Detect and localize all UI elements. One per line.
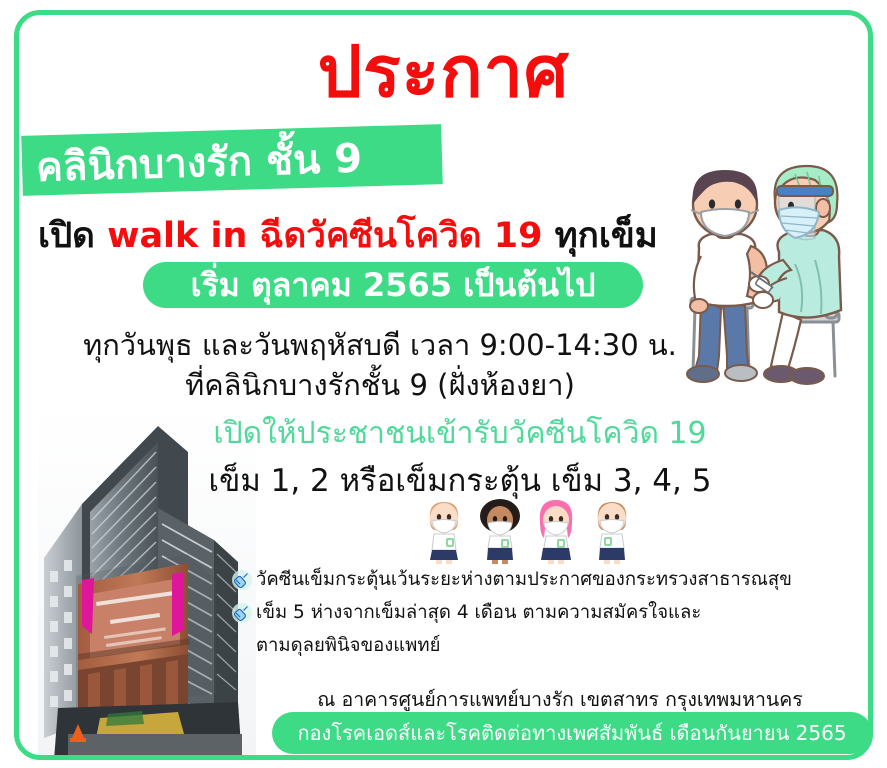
note-text: เข็ม 5 ห่างจากเข็มล่าสุด 4 เดือน ตามความ… (256, 601, 701, 626)
note-row: วัคซีนเข็มกระตุ้นเว้นระยะห่างตามประกาศขอ… (228, 568, 868, 594)
walkin-suffix: ทุกเข็ม (542, 216, 657, 256)
dose-options: เข็ม 1, 2 หรือเข็มกระตุ้น เข็ม 3, 4, 5 (150, 455, 770, 505)
start-date-banner: เริ่ม ตุลาคม 2565 เป็นต้นไป (143, 262, 643, 308)
note-row: เข็ม 5 ห่างจากเข็มล่าสุด 4 เดือน ตามความ… (228, 601, 868, 627)
note-row: ตามดุลยพินิจของแพทย์ (228, 634, 868, 660)
clinic-banner-label: คลินิกบางรัก ชั้น 9 (35, 127, 456, 195)
page-title: ประกาศ (0, 36, 887, 110)
poster-canvas: ประกาศ คลินิกบางรัก ชั้น 9 เปิด walk in … (0, 0, 887, 768)
walkin-prefix: เปิด (38, 216, 107, 256)
syringe-icon-svg (231, 602, 253, 624)
schedule-location: ที่คลินิกบางรักชั้น 9 (ฝั่งห้องยา) (60, 362, 700, 408)
footer-banner: กองโรคเอดส์และโรคติดต่อทางเพศสัมพันธ์ เด… (272, 712, 872, 754)
note-text: วัคซีนเข็มกระตุ้นเว้นระยะห่างตามประกาศขอ… (256, 568, 792, 593)
note-text: ตามดุลยพินิจของแพทย์ (256, 634, 440, 659)
venue-address: ณ อาคารศูนย์การแพทย์บางรัก เขตสาทร กรุงเ… (250, 684, 870, 715)
walkin-line: เปิด walk in ฉีดวัคซีนโควิด 19 ทุกเข็ม (38, 208, 678, 263)
masked-children-svg (418, 498, 648, 564)
notes-list: วัคซีนเข็มกระตุ้นเว้นระยะห่างตามประกาศขอ… (228, 568, 868, 667)
masked-children-illustration (418, 498, 648, 564)
walkin-highlight: walk in ฉีดวัคซีนโควิด 19 (107, 216, 542, 256)
footer-label: กองโรคเอดส์และโรคติดต่อทางเพศสัมพันธ์ เด… (297, 717, 846, 749)
start-date-label: เริ่ม ตุลาคม 2565 เป็นต้นไป (191, 260, 596, 311)
eligibility-headline: เปิดให้ประชาชนเข้ารับวัคซีนโควิด 19 (150, 410, 770, 457)
syringe-icon (228, 568, 256, 591)
syringe-icon-svg (231, 569, 253, 591)
syringe-icon (228, 601, 256, 624)
